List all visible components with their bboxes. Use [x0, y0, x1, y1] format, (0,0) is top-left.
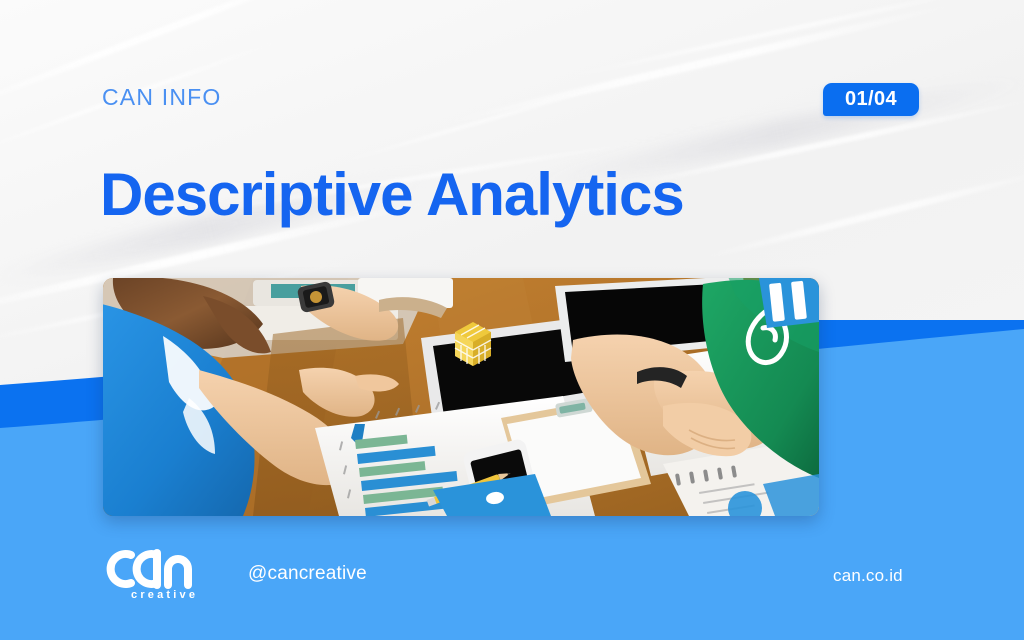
hero-photo-image [103, 278, 819, 516]
eyebrow-label: CAN INFO [102, 84, 222, 111]
page-indicator-badge: 01/04 [823, 83, 919, 116]
logo-subtext: creative [131, 589, 198, 601]
page-indicator-text: 01/04 [845, 88, 897, 111]
hero-photo [103, 278, 819, 516]
social-handle[interactable]: @cancreative [248, 563, 367, 585]
page-title: Descriptive Analytics [100, 163, 684, 227]
website-url[interactable]: can.co.id [833, 566, 903, 586]
slide-canvas: CAN INFO 01/04 Descriptive Analytics [0, 0, 1024, 640]
brand-logo: creative [100, 543, 204, 601]
